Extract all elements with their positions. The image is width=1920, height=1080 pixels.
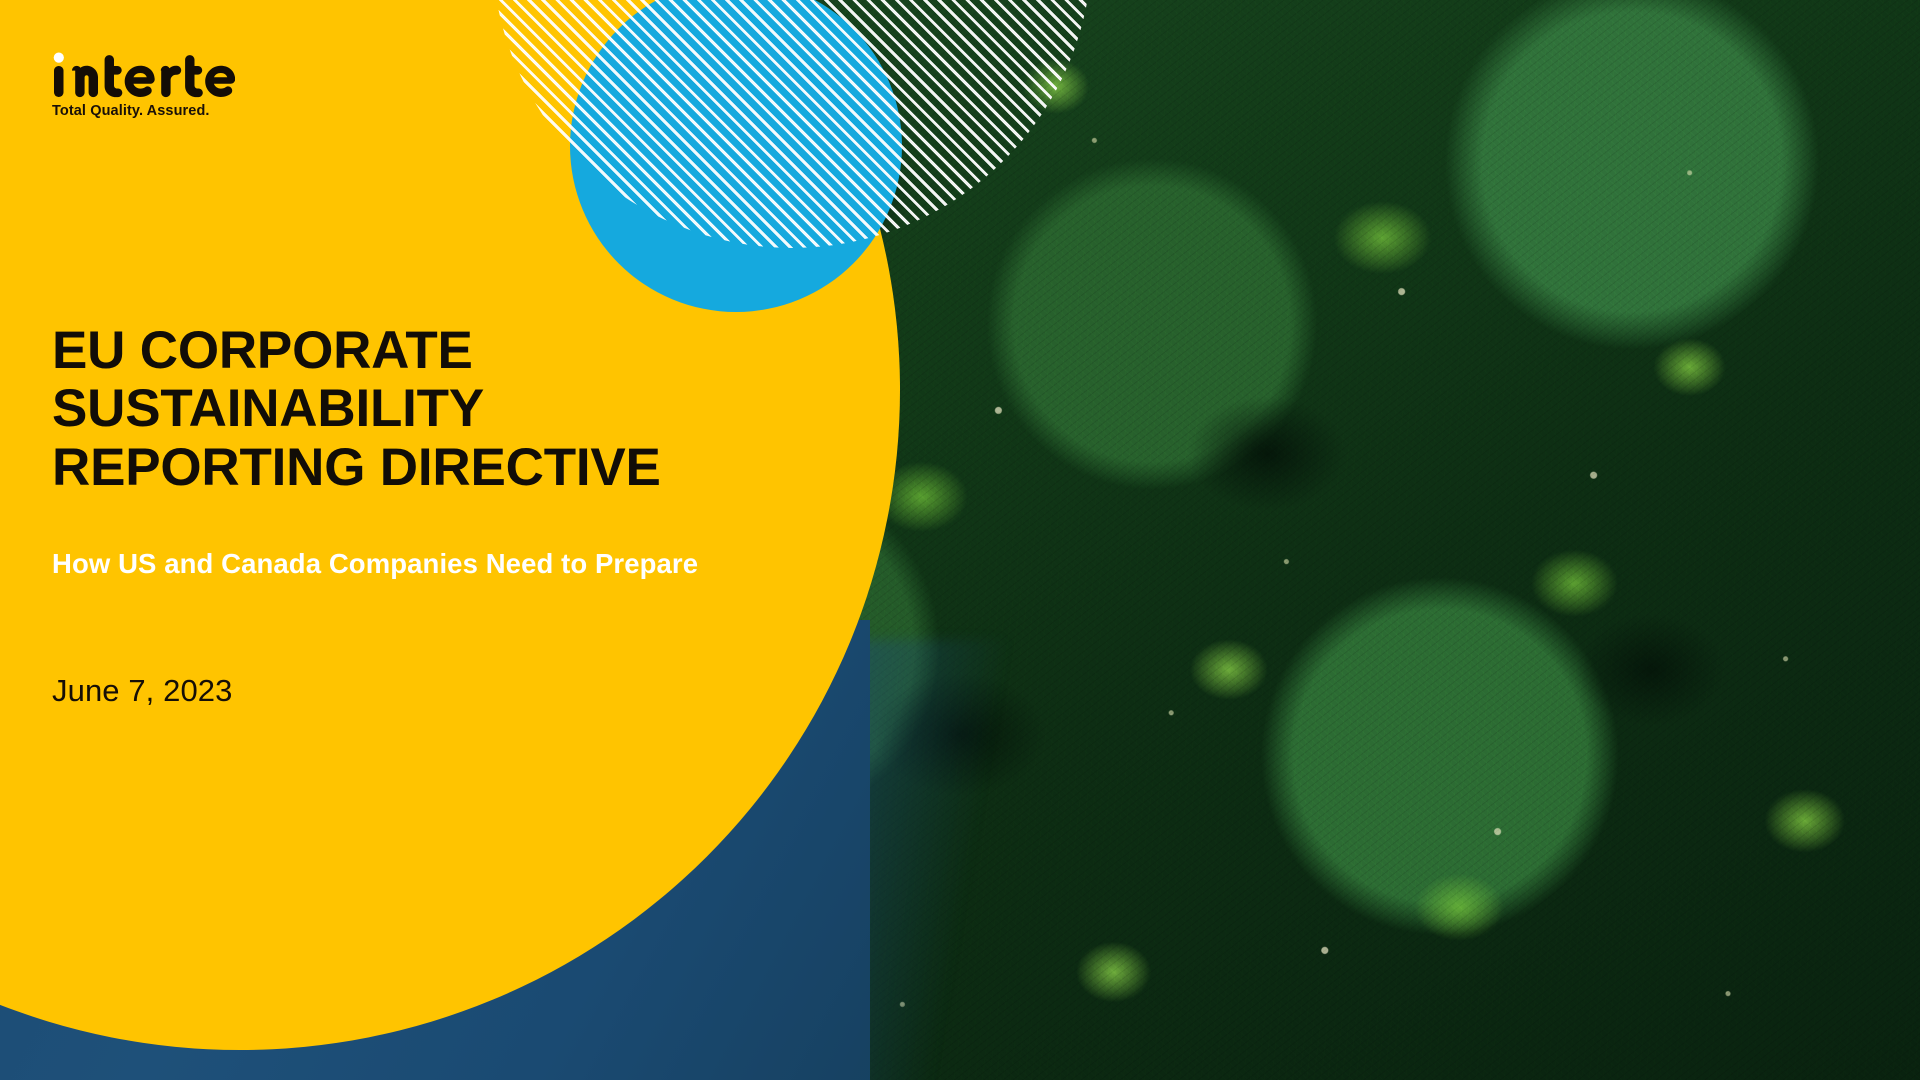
title-line-1: EU CORPORATE	[52, 322, 752, 381]
title-line-2: SUSTAINABILITY	[52, 380, 752, 439]
presentation-date: June 7, 2023	[52, 673, 232, 709]
intertek-logo: Total Quality. Assured.	[52, 52, 372, 119]
page-title: EU CORPORATE SUSTAINABILITY REPORTING DI…	[52, 322, 752, 498]
logo-tagline: Total Quality. Assured.	[52, 103, 372, 119]
intertek-wordmark-icon	[52, 52, 235, 99]
title-slide: Total Quality. Assured. EU CORPORATE SUS…	[0, 0, 1920, 1080]
page-subtitle: How US and Canada Companies Need to Prep…	[52, 548, 812, 580]
title-line-3: REPORTING DIRECTIVE	[52, 439, 752, 498]
